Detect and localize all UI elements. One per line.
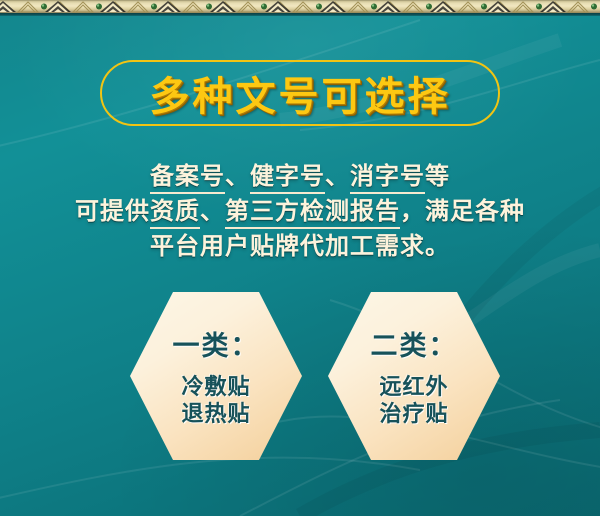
body-line: 备案号、健字号、消字号等 [0,158,600,193]
category-item: 退热贴 [181,401,250,428]
category-item: 治疗贴 [379,401,448,428]
band-underline-rule [0,13,600,16]
body-segment-underlined: 健字号 [250,161,325,194]
body-paragraph: 备案号、健字号、消字号等 可提供资质、第三方检测报告，满足各种 平台用户贴牌代加… [0,158,600,263]
body-segment: 等 [425,161,450,190]
body-segment-underlined: 第三方检测报告 [225,196,400,229]
category-item: 远红外 [379,374,448,401]
body-segment: 可提供 [75,196,150,225]
body-segment: 、 [225,161,250,190]
promo-poster: 多种文号可选择 备案号、健字号、消字号等 可提供资质、第三方检测报告，满足各种 … [0,0,600,516]
category-heading: 二类： [371,324,458,363]
body-segment: 、 [200,196,225,225]
body-segment-underlined: 消字号 [350,161,425,194]
body-segment-underlined: 备案号 [150,161,225,194]
category-hexagon-1[interactable]: 一类： 冷敷贴 退热贴 [130,292,302,460]
band-motif-pattern [0,0,600,13]
top-ornamental-border [0,0,600,16]
body-segment-underlined: 资质 [150,196,200,229]
body-segment: 、 [325,161,350,190]
body-segment: ，满足各种 [400,196,525,225]
body-line: 平台用户贴牌代加工需求。 [0,228,600,263]
page-title: 多种文号可选择 [100,60,500,126]
body-segment: 平台用户贴牌代加工需求。 [150,231,450,260]
category-item: 冷敷贴 [181,374,250,401]
category-heading: 一类： [173,324,260,363]
gold-band-strip [0,0,600,13]
category-hexagon-2[interactable]: 二类： 远红外 治疗贴 [328,292,500,460]
body-line: 可提供资质、第三方检测报告，满足各种 [0,193,600,228]
